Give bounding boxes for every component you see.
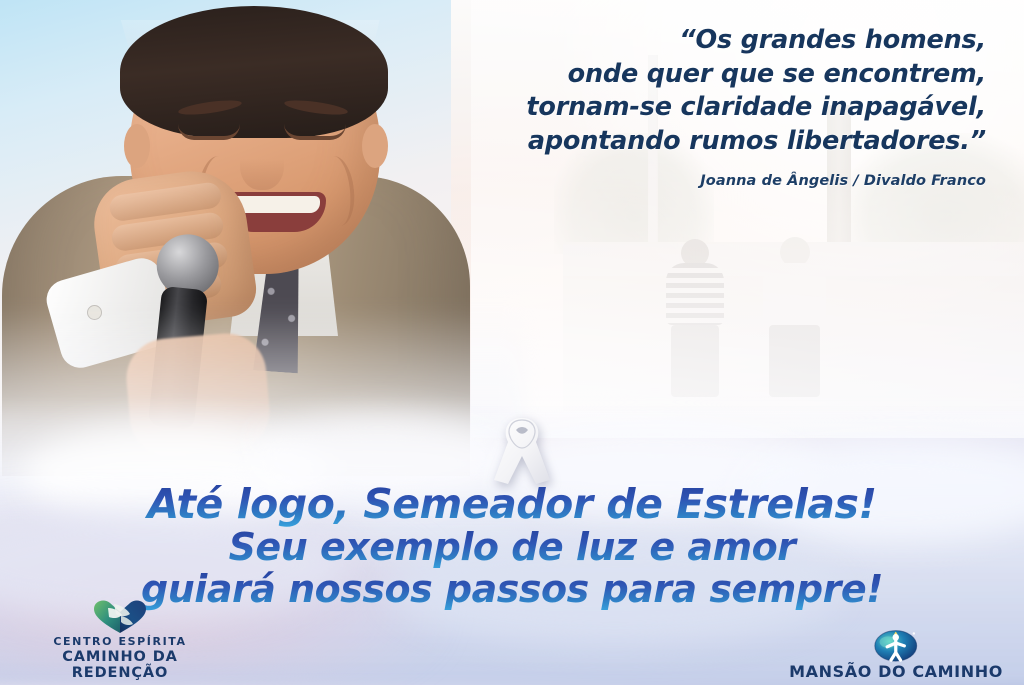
white-mourning-ribbon-icon — [486, 408, 558, 490]
headline-line-2: Seu exemplo de luz e amor — [0, 527, 1024, 569]
headline-block: Até logo, Semeador de Estrelas! Seu exem… — [0, 482, 1024, 611]
portrait-divaldo-franco — [2, 6, 472, 476]
nose — [240, 138, 284, 190]
quote-line-4: apontando rumos libertadores.” — [426, 125, 986, 159]
quote-line-3: tornam-se claridade inapagável, — [426, 91, 986, 125]
headline-line-1: Até logo, Semeador de Estrelas! — [0, 482, 1024, 527]
logo-centro-espirita: CENTRO ESPÍRITA CAMINHO DA REDENÇÃO — [16, 596, 224, 681]
ear-left — [124, 124, 150, 168]
cuff-button — [88, 306, 101, 319]
quote-line-1: “Os grandes homens, — [426, 24, 986, 58]
quote-block: “Os grandes homens, onde quer que se enc… — [426, 24, 986, 189]
eye-left — [178, 124, 240, 140]
heart-hands-icon — [88, 596, 152, 636]
hand-holding-microphone — [123, 330, 273, 460]
logo-right-line-1: MANSÃO DO CAMINHO — [782, 663, 1010, 681]
quote-line-2: onde quer que se encontrem, — [426, 58, 986, 92]
quote-attribution: Joanna de Ângelis / Divaldo Franco — [426, 173, 986, 189]
logo-mansao-do-caminho: MANSÃO DO CAMINHO — [782, 623, 1010, 681]
hair — [120, 6, 388, 138]
ear-right — [362, 124, 388, 168]
memorial-poster: “Os grandes homens, onde quer que se enc… — [0, 0, 1024, 685]
logo-left-line-1: CENTRO ESPÍRITA — [16, 636, 224, 648]
logo-left-line-2: CAMINHO DA REDENÇÃO — [16, 649, 224, 681]
eye-right — [284, 124, 346, 140]
globe-figure-icon — [871, 623, 921, 663]
